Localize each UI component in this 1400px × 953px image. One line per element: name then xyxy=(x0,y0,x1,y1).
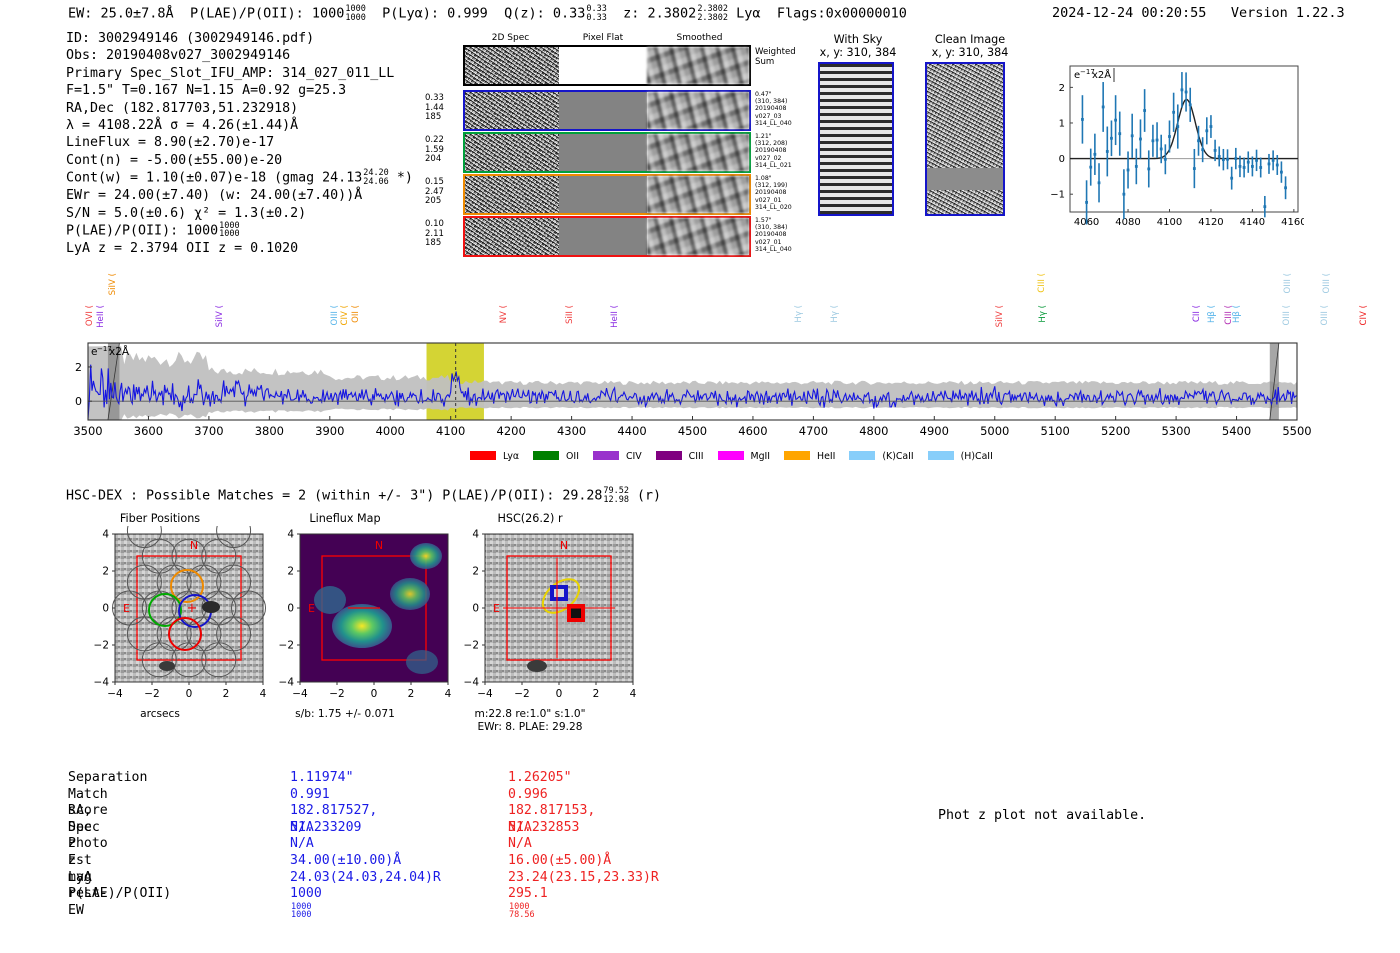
header-plae-value: 1000 xyxy=(312,6,345,22)
spec2d-title-pixelflat: Pixel Flat xyxy=(558,33,648,43)
svg-text:0: 0 xyxy=(75,395,82,408)
table-row-label: P(LAE)/P(OII) xyxy=(68,886,171,903)
legend-swatch-0 xyxy=(470,451,496,460)
svg-text:4000: 4000 xyxy=(376,424,405,438)
table-row-match2: 23.24(23.15,23.33)R xyxy=(508,870,659,887)
svg-text:4120: 4120 xyxy=(1198,217,1223,228)
table-row-match2: 1.26205" xyxy=(508,770,572,787)
svg-text:3900: 3900 xyxy=(315,424,344,438)
spectrum-legend: Lyα OII CIV CIII MgII HeII (K)CaII (H)Ca… xyxy=(470,451,1007,462)
header-qz-value: 0.33 xyxy=(553,6,586,22)
svg-text:5400: 5400 xyxy=(1222,424,1251,438)
svg-text:4800: 4800 xyxy=(859,424,888,438)
hscdex-title-post: (r) xyxy=(637,489,661,504)
svg-text:3800: 3800 xyxy=(255,424,284,438)
panel-title-hsc-r: HSC(26.2) r xyxy=(455,512,605,525)
svg-text:4: 4 xyxy=(102,529,109,541)
svg-text:0: 0 xyxy=(472,603,479,615)
spec2d-row-1-right-labels: 0.47"(310, 384)20190408v027_03314_LL_040 xyxy=(755,91,825,127)
table-row-match1: 1.11974" xyxy=(290,770,354,787)
svg-text:−4: −4 xyxy=(292,688,308,700)
svg-text:0: 0 xyxy=(371,688,378,700)
spec2d-cell-2dspec xyxy=(465,47,559,84)
legend-item-OII: OII xyxy=(533,451,579,462)
svg-text:N: N xyxy=(375,539,383,552)
legend-item-HCaII: (H)CaII xyxy=(928,451,993,462)
cutout-with-sky-sub: x, y: 310, 384 xyxy=(818,46,898,59)
svg-text:2: 2 xyxy=(593,688,600,700)
svg-text:0: 0 xyxy=(287,603,294,615)
svg-text:3700: 3700 xyxy=(194,424,223,438)
spec2d-row-2-cell-1 xyxy=(559,134,648,171)
spec2d-row-3-cell-1 xyxy=(559,176,648,213)
cutout-clean-sub: x, y: 310, 384 xyxy=(925,46,1015,59)
full-spectrum-svg: 0235003600370038003900400041004200430044… xyxy=(0,265,1400,450)
svg-text:5200: 5200 xyxy=(1101,424,1130,438)
svg-text:2: 2 xyxy=(223,688,230,700)
panel-caption-ewr-plae: EWr: 8. PLAE: 29.28 xyxy=(455,721,605,733)
spec2d-row-2-cell-2 xyxy=(647,134,749,171)
info-params: F=1.5" T=0.167 N=1.15 A=0.92 g=25.3 xyxy=(66,82,413,99)
table-row-label: mag xyxy=(68,870,92,887)
svg-text:−1: −1 xyxy=(1050,190,1065,201)
svg-text:4100: 4100 xyxy=(1157,217,1182,228)
table-row-label: Separation xyxy=(68,770,147,787)
svg-text:−2: −2 xyxy=(329,688,344,700)
table-row-match2: N/A xyxy=(508,820,532,837)
table-row-match1: 0.991 xyxy=(290,787,330,804)
table-row-match2: 16.00(±5.00)Å xyxy=(508,853,611,870)
weighted-sum-line1: Weighted xyxy=(755,47,796,57)
legend-swatch-6 xyxy=(849,451,875,460)
spec2d-panel: 2D Spec Pixel Flat Smoothed Weighted Sum… xyxy=(425,33,765,258)
legend-label-7: (H)CaII xyxy=(958,451,993,462)
svg-text:4080: 4080 xyxy=(1115,217,1140,228)
spec2d-row-4-cell-0 xyxy=(465,218,559,255)
svg-text:4: 4 xyxy=(287,529,294,541)
legend-label-4: MgII xyxy=(748,451,771,462)
photz-message: Phot z plot not available. xyxy=(938,808,1146,823)
legend-label-1: OII xyxy=(563,451,579,462)
table-row-match1: N/A xyxy=(290,820,314,837)
info-plae-lo: 1000 xyxy=(219,229,239,239)
table-row-match1: 100010001000 xyxy=(290,886,322,921)
info-id: ID: 3002949146 (3002949146.pdf) xyxy=(66,30,413,47)
header-flags: Flags:0x00000010 xyxy=(777,6,907,22)
info-plae-text: P(LAE)/P(OII): 1000 xyxy=(66,223,218,238)
svg-text:−4: −4 xyxy=(477,688,493,700)
svg-text:4700: 4700 xyxy=(799,424,828,438)
legend-label-6: (K)CaII xyxy=(879,451,913,462)
table-row-match1: 34.00(±10.00)Å xyxy=(290,853,401,870)
legend-item-HeII: HeII xyxy=(784,451,835,462)
table-row-match2: 295.1100078.56 xyxy=(508,886,548,921)
info-lineflux: LineFlux = 8.90(±2.70)e-17 xyxy=(66,134,413,151)
svg-text:x2Å: x2Å xyxy=(109,345,130,358)
spec2d-title-2dspec: 2D Spec xyxy=(463,33,558,43)
spec2d-row-3-cell-2 xyxy=(647,176,749,213)
spec2d-row-2-right-labels: 1.21"(312, 208)20190408v027_02314_LL_021 xyxy=(755,133,825,169)
svg-text:−4: −4 xyxy=(464,677,480,689)
svg-text:−2: −2 xyxy=(144,688,159,700)
svg-text:2: 2 xyxy=(102,566,109,578)
table-row-match2: 0.996 xyxy=(508,787,548,804)
svg-text:x2Å: x2Å xyxy=(1092,68,1111,81)
spec2d-cell-pixelflat xyxy=(559,47,648,84)
timestamp-version: 2024-12-24 00:20:55 Version 1.22.3 xyxy=(1052,5,1345,21)
svg-text:E: E xyxy=(493,602,500,615)
info-cont-w-text: Cont(w) = 1.10(±0.07)e-18 (gmag 24.13 xyxy=(66,171,362,186)
svg-text:−2: −2 xyxy=(514,688,529,700)
legend-swatch-1 xyxy=(533,451,559,460)
info-primary-slot: Primary Spec_Slot_IFU_AMP: 314_027_011_L… xyxy=(66,65,413,82)
svg-text:3500: 3500 xyxy=(73,424,102,438)
svg-text:−4: −4 xyxy=(279,677,295,689)
info-cont-w: Cont(w) = 1.10(±0.07)e-18 (gmag 24.1324.… xyxy=(66,169,413,187)
table-row-match2: N/A xyxy=(508,836,532,853)
legend-swatch-2 xyxy=(593,451,619,460)
spec2d-row-3 xyxy=(463,174,751,215)
info-cont-w-post: *) xyxy=(397,171,413,186)
legend-item-MgII: MgII xyxy=(718,451,771,462)
spec2d-row-1-cell-0 xyxy=(465,92,559,129)
svg-text:−2: −2 xyxy=(279,640,294,652)
svg-text:2: 2 xyxy=(472,566,479,578)
header-plae-lo: 1000 xyxy=(345,13,365,23)
header-z-line: Lyα xyxy=(736,6,760,22)
legend-item-Lyα: Lyα xyxy=(470,451,519,462)
cutout-with-sky-title: With Sky xyxy=(818,33,898,46)
header-ew: EW: 25.0±7.8Å xyxy=(68,6,174,22)
svg-text:0: 0 xyxy=(1059,154,1065,165)
svg-text:N: N xyxy=(560,539,568,552)
cutout-clean-image: Clean Image x, y: 310, 384 xyxy=(925,33,1015,216)
legend-label-3: CIII xyxy=(686,451,704,462)
svg-text:+: + xyxy=(187,601,198,616)
header-z-value: 2.3802 xyxy=(648,6,697,22)
svg-text:−2: −2 xyxy=(464,640,479,652)
panel-caption-arcsecs: arcsecs xyxy=(85,708,235,720)
header-z-label: z: xyxy=(623,6,639,22)
emission-fit-svg: −1012406040804100412041404160e−17x2Å xyxy=(1036,58,1304,238)
spec2d-title-smoothed: Smoothed xyxy=(648,33,751,43)
cutout-with-sky: With Sky x, y: 310, 384 xyxy=(818,33,898,216)
spec2d-row-4-cell-2 xyxy=(647,218,749,255)
header-plae-label: P(LAE)/P(OII): xyxy=(190,6,304,22)
svg-text:4200: 4200 xyxy=(497,424,526,438)
svg-text:−4: −4 xyxy=(94,677,110,689)
cutout-with-sky-image xyxy=(818,62,894,216)
svg-text:0: 0 xyxy=(102,603,109,615)
svg-text:4900: 4900 xyxy=(920,424,949,438)
info-lambda-sigma: λ = 4108.22Å σ = 4.26(±1.44)Å xyxy=(66,117,413,134)
spec2d-row-4-right-labels: 1.57"(310, 384)20190408v027_01314_LL_040 xyxy=(755,217,825,253)
cutout-clean-image-box xyxy=(925,62,1005,216)
info-sn-chi2: S/N = 5.0(±0.6) χ² = 1.3(±0.2) xyxy=(66,205,413,222)
spec2d-row-4-left-labels: 0.102.11185 xyxy=(425,220,459,249)
legend-label-2: CIV xyxy=(623,451,642,462)
weighted-sum-line2: Sum xyxy=(755,57,796,67)
timestamp: 2024-12-24 00:20:55 xyxy=(1052,5,1206,21)
spec2d-row-2 xyxy=(463,132,751,173)
svg-text:1: 1 xyxy=(1059,118,1065,129)
header-qz-label: Q(z): xyxy=(504,6,545,22)
spec2d-row-1-cell-2 xyxy=(647,92,749,129)
hscdex-image-panels: Fiber Positions Lineflux Map HSC(26.2) r… xyxy=(55,512,655,737)
svg-text:4300: 4300 xyxy=(557,424,586,438)
panel-title-lineflux-map: Lineflux Map xyxy=(270,512,420,525)
svg-text:E: E xyxy=(308,602,315,615)
spec2d-row-4 xyxy=(463,216,751,257)
header-summary-line: EW: 25.0±7.8Å P(LAE)/P(OII): 10001000100… xyxy=(68,5,907,22)
spec2d-row-2-cell-0 xyxy=(465,134,559,171)
spec2d-row-2-left-labels: 0.221.59204 xyxy=(425,136,459,165)
panel-title-fiber-positions: Fiber Positions xyxy=(85,512,235,525)
header-plya: P(Lyα): 0.999 xyxy=(382,6,488,22)
svg-text:4160: 4160 xyxy=(1281,217,1304,228)
svg-text:5000: 5000 xyxy=(980,424,1009,438)
svg-text:4: 4 xyxy=(260,688,267,700)
spec2d-row-4-cell-1 xyxy=(559,218,648,255)
hscdex-title-text: HSC-DEX : Possible Matches = 2 (within +… xyxy=(66,489,602,504)
spec2d-row-3-right-labels: 1.08"(312, 199)20190408v027_01314_LL_020 xyxy=(755,175,825,211)
info-ewr: EWr = 24.00(±7.40) (w: 24.00(±7.40))Å xyxy=(66,187,413,204)
svg-text:4500: 4500 xyxy=(678,424,707,438)
svg-text:4: 4 xyxy=(472,529,479,541)
emission-line-fit-plot: −1012406040804100412041404160e−17x2Å xyxy=(1036,58,1304,238)
info-radec: RA,Dec (182.817703,51.232918) xyxy=(66,100,413,117)
panel-caption-mag: m:22.8 re:1.0" s:1.0" xyxy=(455,708,605,720)
legend-swatch-3 xyxy=(656,451,682,460)
svg-text:5500: 5500 xyxy=(1282,424,1311,438)
svg-text:2: 2 xyxy=(408,688,415,700)
legend-swatch-7 xyxy=(928,451,954,460)
hscdex-title-lo: 12.98 xyxy=(603,495,629,505)
spec2d-row-1-cell-1 xyxy=(559,92,648,129)
legend-item-CIII: CIII xyxy=(656,451,704,462)
svg-text:5100: 5100 xyxy=(1041,424,1070,438)
table-row-match1: 24.03(24.03,24.04)R xyxy=(290,870,441,887)
svg-text:−4: −4 xyxy=(107,688,123,700)
svg-text:2: 2 xyxy=(75,361,82,374)
header-qz-lo: 0.33 xyxy=(586,13,606,23)
svg-text:0: 0 xyxy=(186,688,193,700)
svg-text:0: 0 xyxy=(556,688,563,700)
svg-text:4140: 4140 xyxy=(1240,217,1265,228)
svg-text:E: E xyxy=(123,602,130,615)
object-info-block: ID: 3002949146 (3002949146.pdf) Obs: 201… xyxy=(66,30,413,257)
info-obs: Obs: 20190408v027_3002949146 xyxy=(66,47,413,64)
hscdex-title: HSC-DEX : Possible Matches = 2 (within +… xyxy=(66,487,661,504)
spec2d-row-3-cell-0 xyxy=(465,176,559,213)
svg-text:4100: 4100 xyxy=(436,424,465,438)
cutout-clean-title: Clean Image xyxy=(925,33,1015,46)
table-row-match1: N/A xyxy=(290,836,314,853)
info-plae: P(LAE)/P(OII): 100010001000 xyxy=(66,222,413,240)
full-spectrum-panel: SiIV (OVI (HeII (SiIV (OIII (CIV (OII (N… xyxy=(0,265,1400,480)
legend-swatch-4 xyxy=(718,451,744,460)
spec2d-weighted-sum-label: Weighted Sum xyxy=(755,47,796,67)
svg-text:4600: 4600 xyxy=(738,424,767,438)
spec2d-row-3-left-labels: 0.152.47205 xyxy=(425,178,459,207)
info-cont-n: Cont(n) = -5.00(±55.00)e-20 xyxy=(66,152,413,169)
panel-caption-sb: s/b: 1.75 +/- 0.071 xyxy=(270,708,420,720)
spec2d-row-1 xyxy=(463,90,751,131)
spec2d-row-1-left-labels: 0.331.44185 xyxy=(425,94,459,123)
legend-swatch-5 xyxy=(784,451,810,460)
svg-text:4: 4 xyxy=(630,688,637,700)
info-redshifts: LyA z = 2.3794 OII z = 0.1020 xyxy=(66,240,413,257)
legend-item-CIV: CIV xyxy=(593,451,642,462)
spec2d-cell-smoothed xyxy=(647,47,749,84)
svg-text:3600: 3600 xyxy=(134,424,163,438)
svg-text:4: 4 xyxy=(445,688,452,700)
svg-text:4400: 4400 xyxy=(617,424,646,438)
legend-item-KCaII: (K)CaII xyxy=(849,451,913,462)
legend-label-0: Lyα xyxy=(500,451,519,462)
svg-text:2: 2 xyxy=(1059,83,1065,94)
info-cont-w-lo: 24.06 xyxy=(363,177,389,187)
svg-text:2: 2 xyxy=(287,566,294,578)
svg-text:−2: −2 xyxy=(94,640,109,652)
header-z-lo: 2.3802 xyxy=(697,13,728,23)
svg-text:5300: 5300 xyxy=(1161,424,1190,438)
version-label: Version 1.22.3 xyxy=(1231,5,1345,21)
legend-label-5: HeII xyxy=(814,451,835,462)
cutout-clean-gap xyxy=(927,168,1003,190)
spec2d-row-weighted-sum xyxy=(463,45,751,86)
